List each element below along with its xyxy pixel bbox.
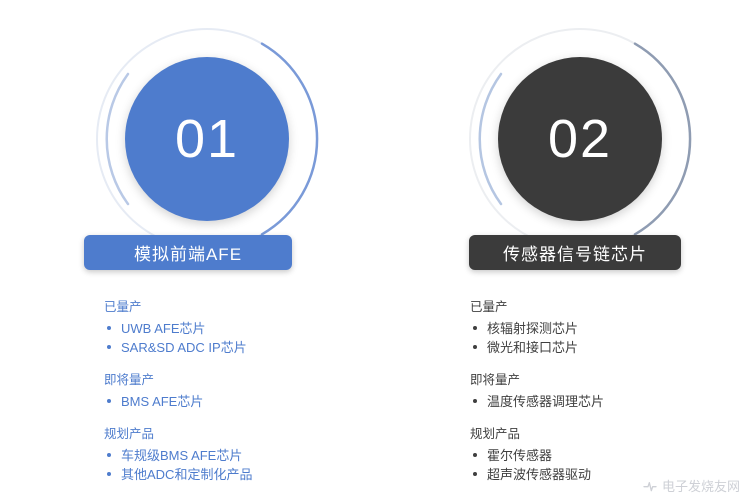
title-pill-01[interactable]: 模拟前端AFE — [84, 235, 292, 270]
bullet-dot-icon — [473, 326, 477, 330]
group-items: 温度传感器调理芯片 — [470, 392, 746, 411]
bullet-dot-icon — [473, 345, 477, 349]
list-item: 微光和接口芯片 — [470, 338, 746, 357]
group-heading: 即将量产 — [470, 371, 746, 390]
watermark-label: 电子发烧友网 — [662, 476, 740, 495]
group-items: 核辐射探测芯片 微光和接口芯片 — [470, 319, 746, 357]
group-heading: 即将量产 — [104, 371, 404, 390]
list-item: 温度传感器调理芯片 — [470, 392, 746, 411]
bullet-dot-icon — [107, 345, 111, 349]
title-pill-label-01: 模拟前端AFE — [134, 240, 242, 265]
list-item: 车规级BMS AFE芯片 — [104, 446, 404, 465]
list-item-label: UWB AFE芯片 — [121, 321, 206, 336]
detail-group: 即将量产 温度传感器调理芯片 — [470, 371, 746, 411]
list-item: 霍尔传感器 — [470, 446, 746, 465]
number-disc-02: 02 — [498, 57, 662, 221]
list-item-label: BMS AFE芯片 — [121, 394, 203, 409]
group-heading: 规划产品 — [470, 425, 746, 444]
watermark-logo-icon — [642, 478, 658, 494]
bullet-dot-icon — [473, 472, 477, 476]
number-label-02: 02 — [548, 112, 612, 166]
column-02: 02 传感器信号链芯片 已量产 核辐射探测芯片 微光和接口芯片 即将量产 温度传… — [373, 0, 746, 501]
detail-group: 已量产 核辐射探测芯片 微光和接口芯片 — [470, 298, 746, 357]
group-items: 车规级BMS AFE芯片 其他ADC和定制化产品 — [104, 446, 404, 484]
group-heading: 规划产品 — [104, 425, 404, 444]
title-pill-label-02: 传感器信号链芯片 — [503, 240, 647, 265]
watermark: 电子发烧友网 — [642, 476, 740, 495]
list-item: UWB AFE芯片 — [104, 319, 404, 338]
group-heading: 已量产 — [104, 298, 404, 317]
list-item-label: 其他ADC和定制化产品 — [121, 467, 252, 482]
list-item: 核辐射探测芯片 — [470, 319, 746, 338]
detail-list-02: 已量产 核辐射探测芯片 微光和接口芯片 即将量产 温度传感器调理芯片 规划产品 … — [470, 298, 746, 484]
number-disc-01: 01 — [125, 57, 289, 221]
number-label-01: 01 — [175, 112, 239, 166]
bullet-dot-icon — [107, 399, 111, 403]
list-item-label: 核辐射探测芯片 — [487, 321, 578, 336]
bullet-dot-icon — [107, 472, 111, 476]
detail-group: 即将量产 BMS AFE芯片 — [104, 371, 404, 411]
list-item: 其他ADC和定制化产品 — [104, 465, 404, 484]
list-item-label: 微光和接口芯片 — [487, 340, 578, 355]
detail-group: 规划产品 车规级BMS AFE芯片 其他ADC和定制化产品 — [104, 425, 404, 484]
list-item-label: 霍尔传感器 — [487, 448, 552, 463]
column-01: 01 模拟前端AFE 已量产 UWB AFE芯片 SAR&SD ADC IP芯片… — [0, 0, 373, 501]
detail-group: 已量产 UWB AFE芯片 SAR&SD ADC IP芯片 — [104, 298, 404, 357]
list-item: SAR&SD ADC IP芯片 — [104, 338, 404, 357]
bullet-dot-icon — [107, 326, 111, 330]
list-item-label: 温度传感器调理芯片 — [487, 394, 604, 409]
group-heading: 已量产 — [470, 298, 746, 317]
group-items: UWB AFE芯片 SAR&SD ADC IP芯片 — [104, 319, 404, 357]
bullet-dot-icon — [107, 453, 111, 457]
list-item-label: 车规级BMS AFE芯片 — [121, 448, 242, 463]
title-pill-02[interactable]: 传感器信号链芯片 — [469, 235, 681, 270]
bullet-dot-icon — [473, 453, 477, 457]
group-items: BMS AFE芯片 — [104, 392, 404, 411]
list-item-label: SAR&SD ADC IP芯片 — [121, 340, 247, 355]
bullet-dot-icon — [473, 399, 477, 403]
badge-group-02: 02 — [461, 20, 701, 260]
list-item-label: 超声波传感器驱动 — [487, 467, 591, 482]
badge-group-01: 01 — [88, 20, 328, 260]
slide-canvas: 01 模拟前端AFE 已量产 UWB AFE芯片 SAR&SD ADC IP芯片… — [0, 0, 746, 501]
detail-list-01: 已量产 UWB AFE芯片 SAR&SD ADC IP芯片 即将量产 BMS A… — [104, 298, 404, 484]
list-item: BMS AFE芯片 — [104, 392, 404, 411]
